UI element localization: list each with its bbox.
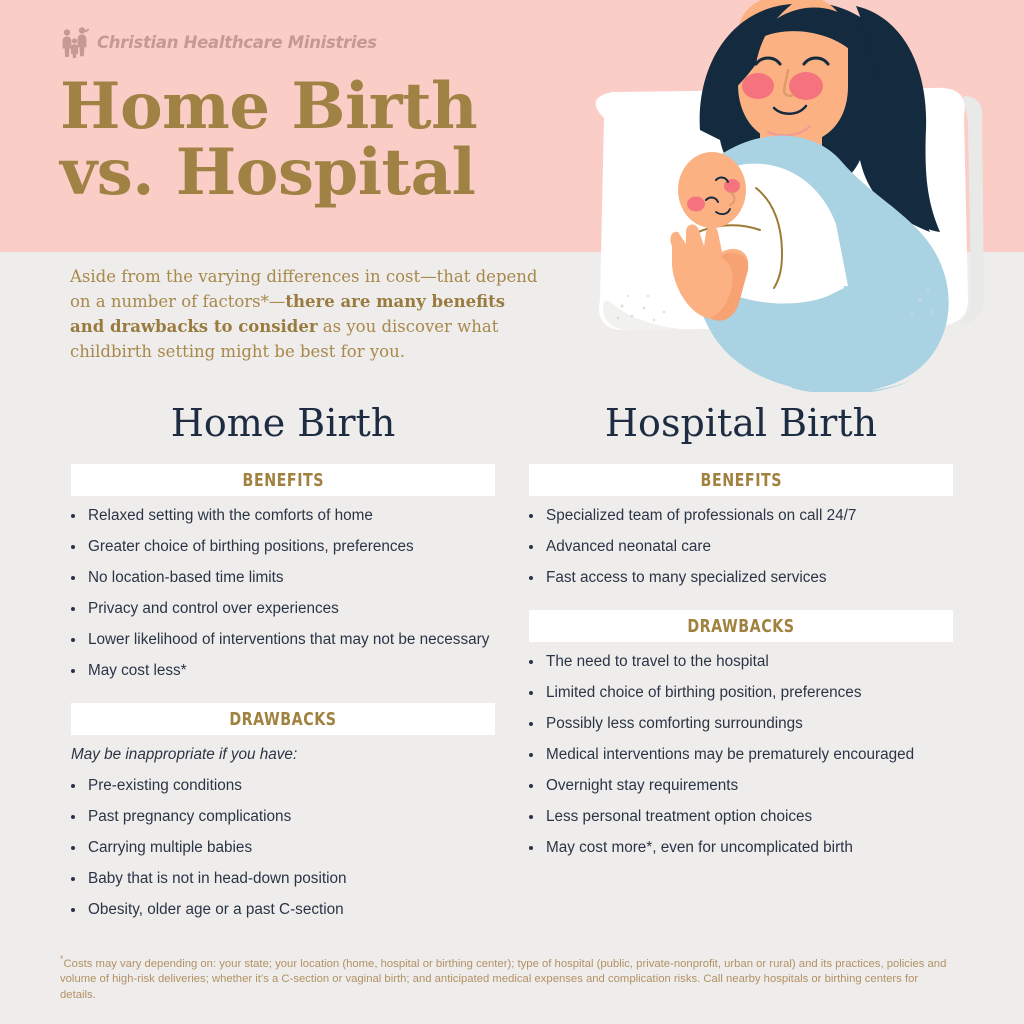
list-item: Relaxed setting with the comforts of hom… [60,506,506,526]
list-item: The need to travel to the hospital [518,652,964,672]
brand-name: Christian Healthcare Ministries [97,33,377,52]
column-hospital-birth: Hospital Birth BENEFITS Specialized team… [518,400,964,869]
list-item: Advanced neonatal care [518,537,964,557]
list-hospital-benefits: Specialized team of professionals on cal… [518,506,964,588]
home-drawbacks-note: May be inappropriate if you have: [71,745,506,765]
list-home-benefits: Relaxed setting with the comforts of hom… [60,506,506,681]
section-label: BENEFITS [242,470,324,491]
mother-holding-newborn-illustration [560,0,1024,392]
list-item: Lower likelihood of interventions that m… [60,630,506,650]
section-header-home-drawbacks: DRAWBACKS [71,703,495,735]
list-item: Medical interventions may be prematurely… [518,745,964,765]
page-title: Home Birth vs. Hospital [60,74,540,206]
brand-logo[interactable]: Christian Healthcare Ministries [60,26,377,58]
column-title-home-birth: Home Birth [60,400,506,446]
list-item: May cost more*, even for uncomplicated b… [518,838,964,858]
title-line-1: Home Birth [60,69,477,144]
family-icon [60,26,90,58]
list-item: Overnight stay requirements [518,776,964,796]
list-item: Pre-existing conditions [60,776,506,796]
list-item: May cost less* [60,661,506,681]
list-hospital-drawbacks: The need to travel to the hospital Limit… [518,652,964,858]
list-item: Past pregnancy complications [60,807,506,827]
list-item: Baby that is not in head-down position [60,869,506,889]
list-item: Obesity, older age or a past C-section [60,900,506,920]
list-item: Greater choice of birthing positions, pr… [60,537,506,557]
list-item: No location-based time limits [60,568,506,588]
section-label: DRAWBACKS [229,709,336,730]
section-label: BENEFITS [700,470,782,491]
list-item: Privacy and control over experiences [60,599,506,619]
list-item: Less personal treatment option choices [518,807,964,827]
intro-paragraph: Aside from the varying differences in co… [70,264,540,364]
column-home-birth: Home Birth BENEFITS Relaxed setting with… [60,400,506,931]
title-line-2: vs. Hospital [60,140,540,206]
list-item: Carrying multiple babies [60,838,506,858]
list-item: Specialized team of professionals on cal… [518,506,964,526]
list-item: Limited choice of birthing position, pre… [518,683,964,703]
section-label: DRAWBACKS [687,616,794,637]
footnote: *Costs may vary depending on: your state… [60,952,950,1003]
section-header-hospital-drawbacks: DRAWBACKS [529,610,953,642]
section-header-home-benefits: BENEFITS [71,464,495,496]
list-item: Possibly less comforting surroundings [518,714,964,734]
column-title-hospital-birth: Hospital Birth [518,400,964,446]
list-item: Fast access to many specialized services [518,568,964,588]
list-home-drawbacks: Pre-existing conditions Past pregnancy c… [60,776,506,920]
infographic-page: Christian Healthcare Ministries Home Bir… [0,0,1024,1024]
section-header-hospital-benefits: BENEFITS [529,464,953,496]
footnote-text: Costs may vary depending on: your state;… [60,958,946,1001]
